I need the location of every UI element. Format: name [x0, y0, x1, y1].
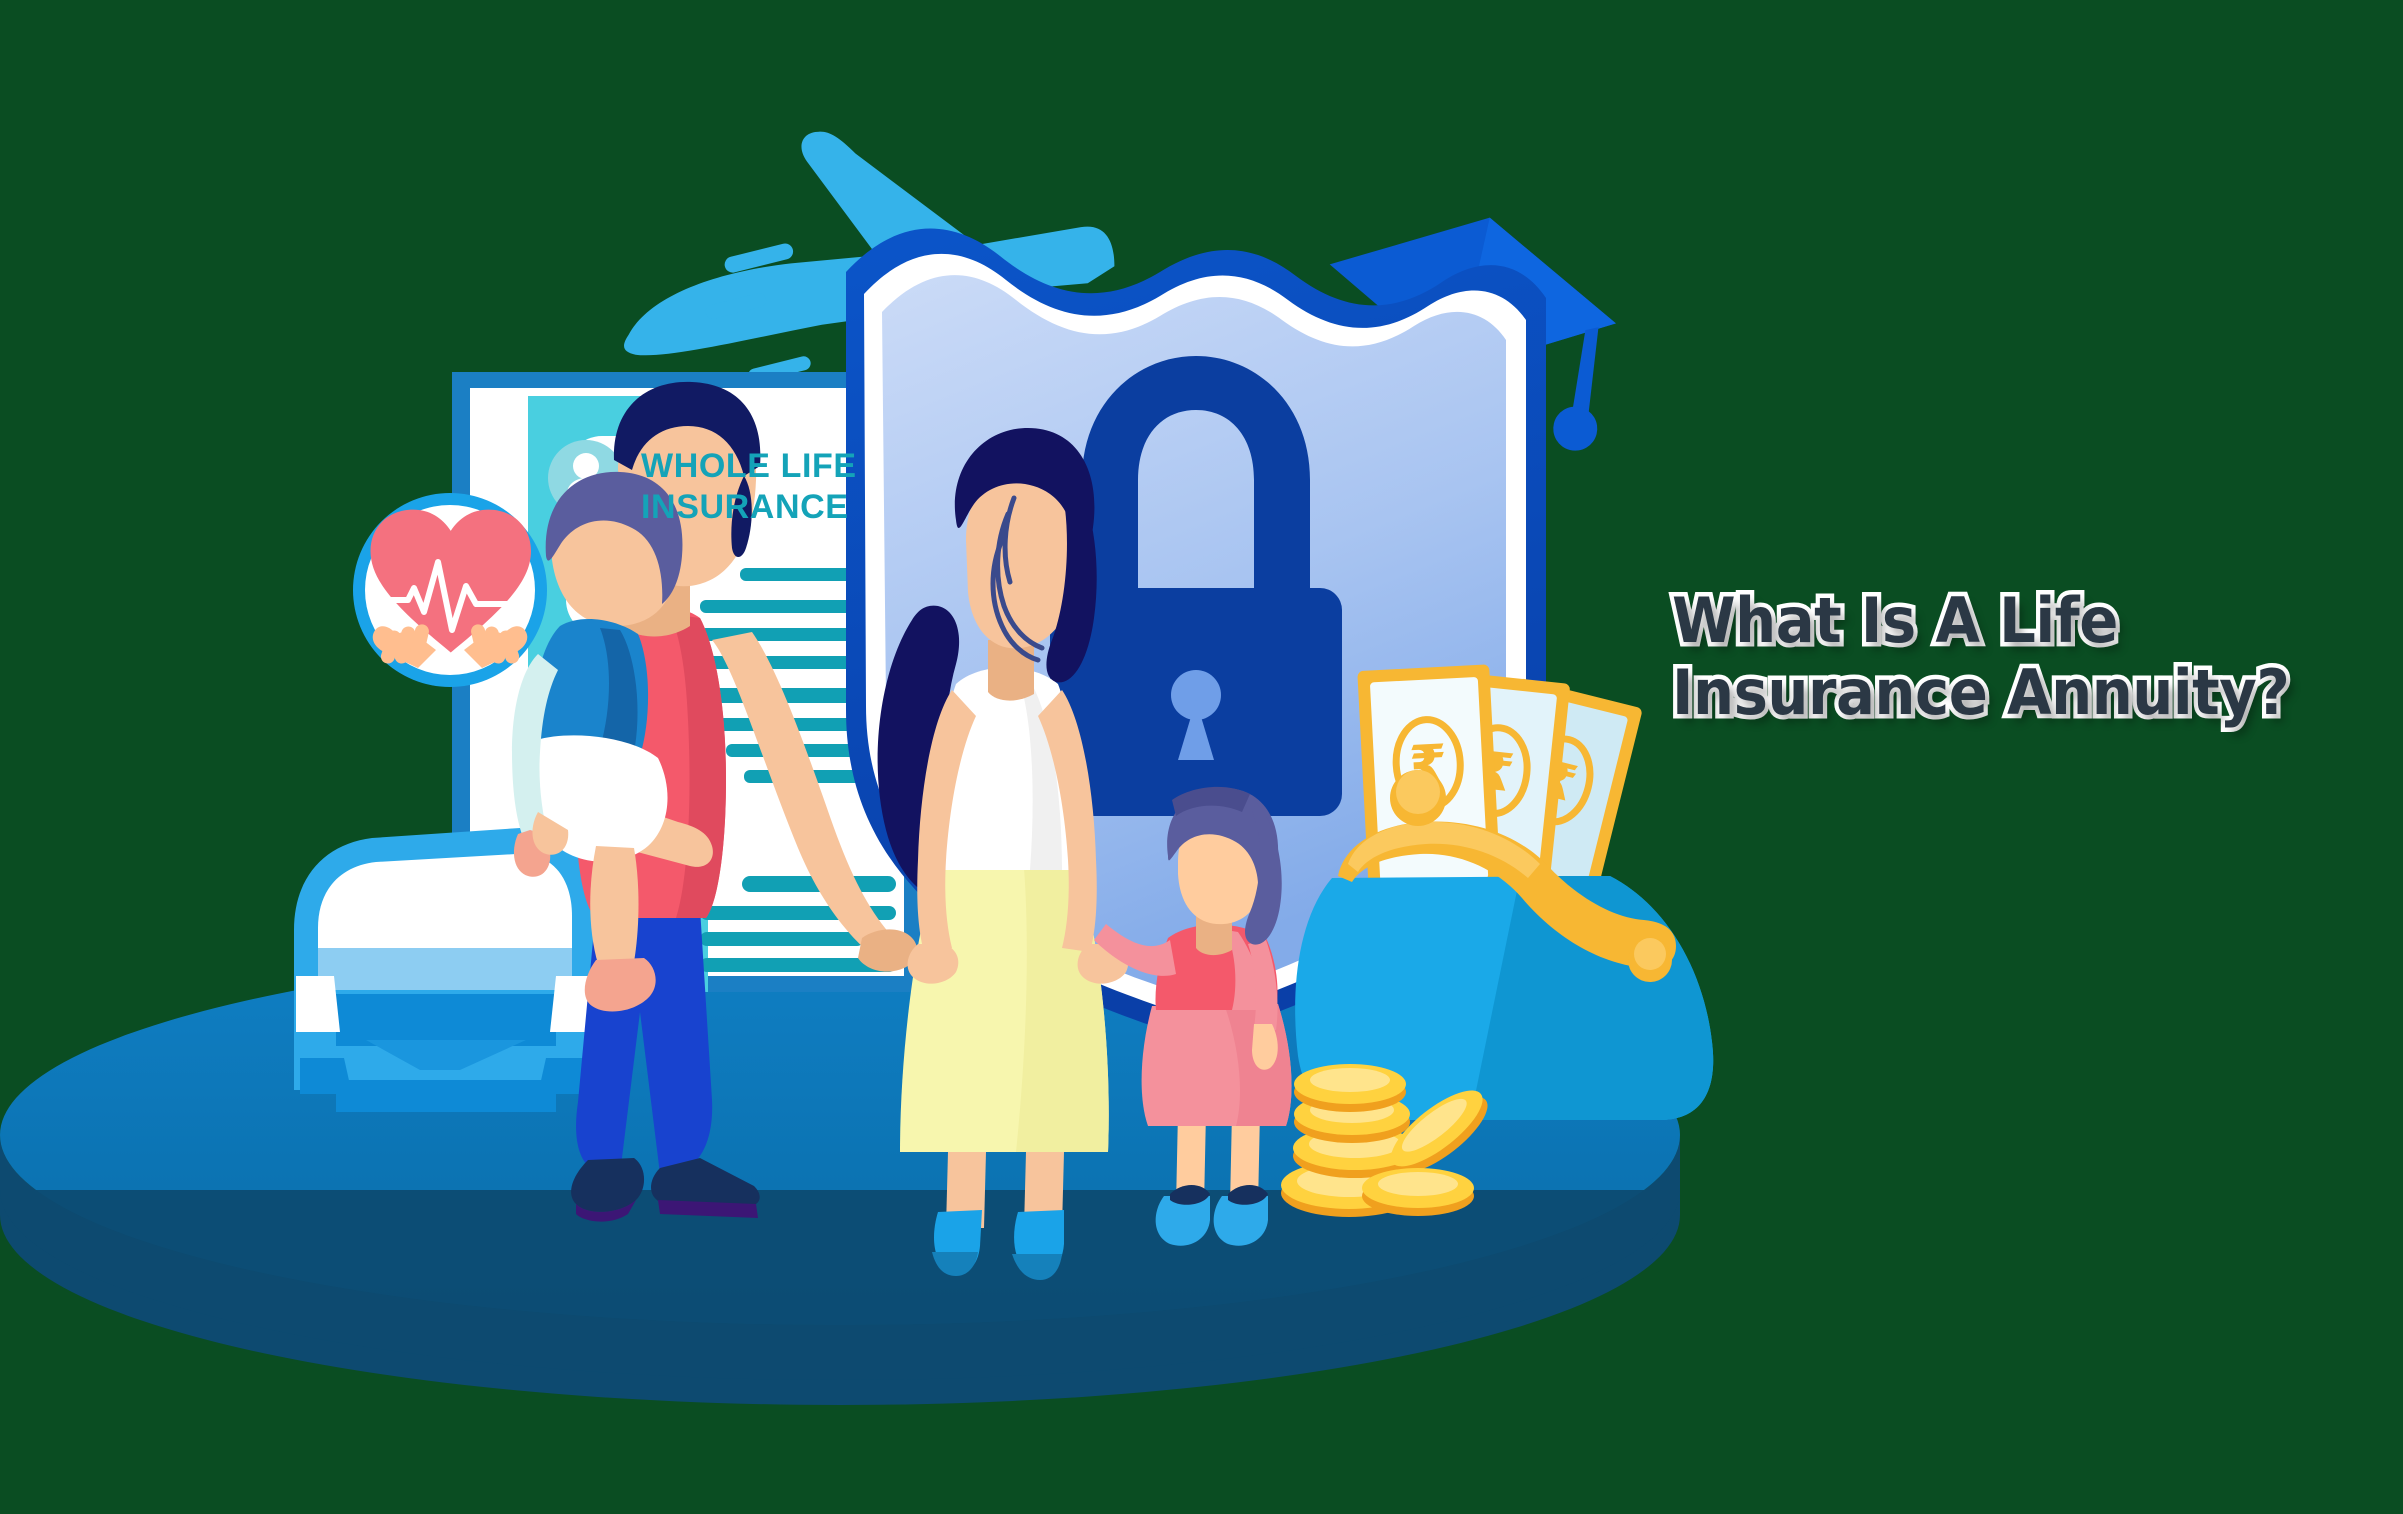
headline-text: What Is A Life Insurance Annuity?	[1672, 585, 2323, 729]
heart-in-hands-icon	[353, 493, 547, 687]
policy-document-title: WHOLE LIFE INSURANCE	[641, 446, 901, 529]
illustration-canvas: ₹ ₹ ₹	[0, 0, 2403, 1514]
car-icon	[294, 828, 596, 1112]
life-insurance-illustration: ₹ ₹ ₹	[0, 0, 2403, 1514]
